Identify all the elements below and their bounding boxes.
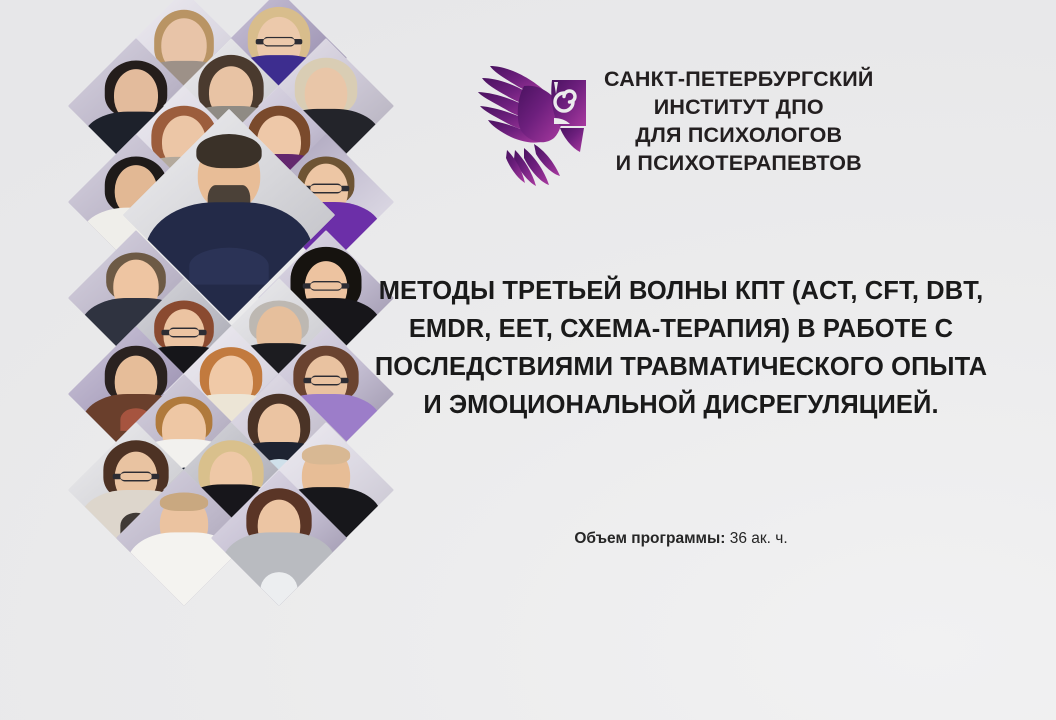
institute-name: САНКТ-ПЕТЕРБУРГСКИЙ ИНСТИТУТ ДПО ДЛЯ ПСИ… bbox=[604, 66, 874, 178]
logo-line-3: ДЛЯ ПСИХОЛОГОВ bbox=[604, 122, 874, 150]
program-volume-label: Объем программы: bbox=[574, 530, 725, 547]
course-title-line-3: ПОСЛЕДСТВИЯМИ ТРАВМАТИЧЕСКОГО ОПЫТА bbox=[336, 348, 1026, 386]
course-title-line-4: И ЭМОЦИОНАЛЬНОЙ ДИСРЕГУЛЯЦИЕЙ. bbox=[336, 386, 1026, 424]
program-volume-value: 36 ак. ч. bbox=[730, 530, 788, 547]
institute-logo: САНКТ-ПЕТЕРБУРГСКИЙ ИНСТИТУТ ДПО ДЛЯ ПСИ… bbox=[474, 52, 874, 192]
owl-flying-icon bbox=[474, 52, 590, 192]
logo-line-1: САНКТ-ПЕТЕРБУРГСКИЙ bbox=[604, 66, 874, 94]
course-title-line-1: МЕТОДЫ ТРЕТЬЕЙ ВОЛНЫ КПТ (ACT, CFT, DBT, bbox=[336, 272, 1026, 310]
course-title-line-2: EMDR, EET, СХЕМА-ТЕРАПИЯ) В РАБОТЕ С bbox=[336, 310, 1026, 348]
instructor-photo-collage bbox=[88, 0, 358, 720]
course-title: МЕТОДЫ ТРЕТЬЕЙ ВОЛНЫ КПТ (ACT, CFT, DBT,… bbox=[336, 272, 1026, 424]
logo-line-4: И ПСИХОТЕРАПЕВТОВ bbox=[604, 150, 874, 178]
promo-slide: САНКТ-ПЕТЕРБУРГСКИЙ ИНСТИТУТ ДПО ДЛЯ ПСИ… bbox=[0, 0, 1056, 720]
logo-line-2: ИНСТИТУТ ДПО bbox=[604, 94, 874, 122]
program-volume: Объем программы: 36 ак. ч. bbox=[336, 528, 1026, 550]
